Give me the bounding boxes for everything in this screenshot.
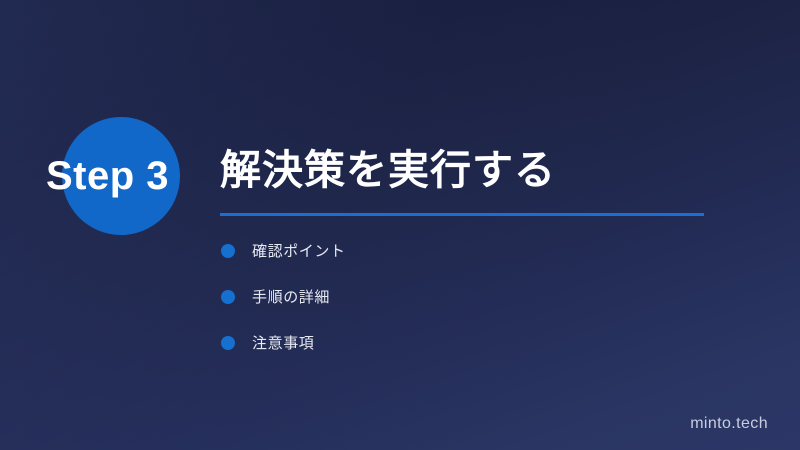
bullet-dot-icon — [221, 244, 235, 258]
title-divider — [220, 213, 704, 216]
list-item-label: 確認ポイント — [252, 240, 346, 261]
footer-brand: minto.tech — [690, 415, 768, 433]
slide-title: 解決策を実行する — [220, 144, 556, 196]
list-item: 確認ポイント — [221, 238, 691, 263]
bullet-dot-icon — [221, 336, 235, 350]
step-badge-label: Step 3 — [46, 152, 169, 200]
list-item: 手順の詳細 — [221, 284, 691, 309]
bullet-dot-icon — [221, 290, 235, 304]
list-item-label: 手順の詳細 — [252, 286, 330, 307]
slide-content-layer: Step 3 解決策を実行する 確認ポイント 手順の詳細 注意事項 minto.… — [0, 0, 800, 450]
list-item: 注意事項 — [221, 330, 691, 355]
presentation-slide: Step 3 解決策を実行する 確認ポイント 手順の詳細 注意事項 minto.… — [0, 0, 800, 450]
list-item-label: 注意事項 — [252, 332, 314, 353]
bullet-list: 確認ポイント 手順の詳細 注意事項 — [221, 238, 691, 376]
